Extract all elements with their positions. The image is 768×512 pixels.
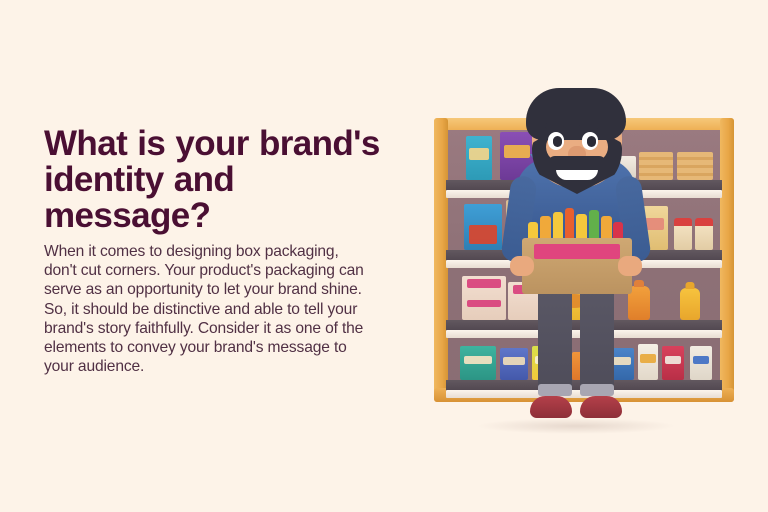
product-red-pouch [662, 346, 684, 380]
product-cream-jar-1 [674, 224, 692, 250]
box-brand-label [534, 244, 620, 259]
product-yellow-squeeze-bottle [680, 288, 700, 320]
shoe-left [530, 396, 572, 418]
carried-product-box [522, 238, 632, 294]
shelf-frame-right [720, 118, 734, 402]
shoe-right [580, 396, 622, 418]
product-cream-jar-2 [695, 224, 713, 250]
hand-right [618, 256, 642, 276]
slide-root: What is your brand's identity and messag… [0, 0, 768, 512]
hand-left [510, 256, 534, 276]
illustration-panel [384, 0, 768, 512]
illustration-canvas [384, 0, 768, 512]
product-white-blue-bottle [690, 346, 712, 380]
product-wafer-stack-2 [677, 152, 713, 180]
shopkeeper-character [488, 88, 664, 444]
moustache [548, 156, 606, 170]
page-title: What is your brand's identity and messag… [44, 126, 384, 234]
body-paragraph: When it comes to designing box packaging… [44, 242, 374, 376]
text-panel: What is your brand's identity and messag… [0, 0, 384, 512]
character-hair [526, 88, 626, 140]
